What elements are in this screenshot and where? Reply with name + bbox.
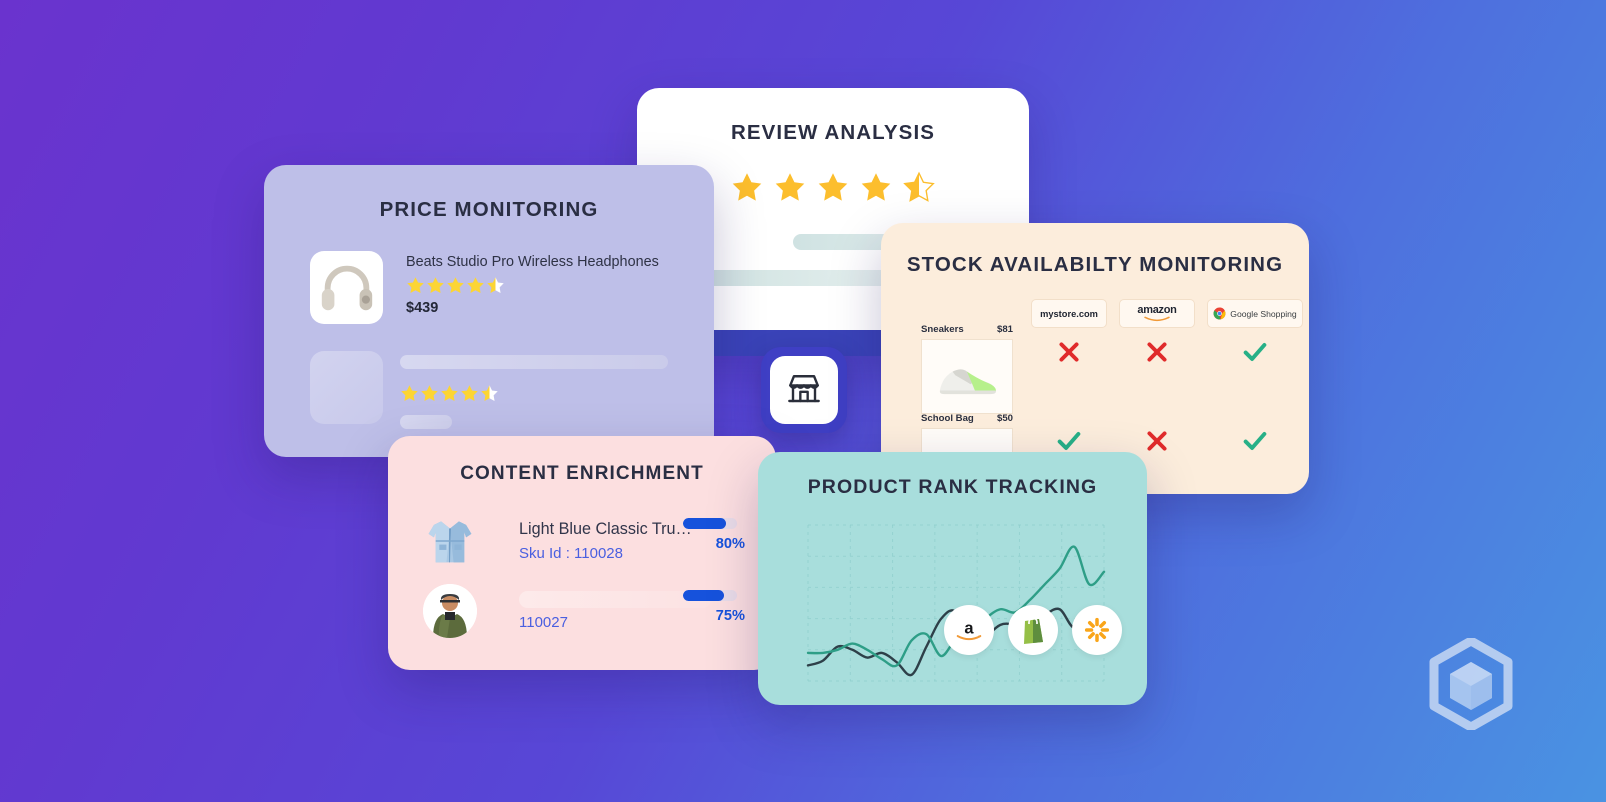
shopify-icon xyxy=(1019,615,1047,645)
availability-cell xyxy=(1119,338,1195,366)
svg-text:a: a xyxy=(964,619,974,637)
star-icon xyxy=(440,384,459,403)
product-thumbnail xyxy=(423,584,477,638)
enrichment-progress: 80% xyxy=(683,518,745,552)
star-icon xyxy=(426,276,445,295)
google-shopping-label: Google Shopping xyxy=(1230,309,1296,319)
product-name: Sneakers xyxy=(921,324,964,335)
cross-icon xyxy=(1144,339,1170,365)
product-label: School Bag $50 xyxy=(921,413,1013,424)
amazon-logo: amazon xyxy=(1137,305,1176,316)
availability-row-school-bag xyxy=(1031,427,1303,455)
star-icon xyxy=(460,384,479,403)
star-icon xyxy=(446,276,465,295)
availability-row-sneakers xyxy=(1031,338,1303,366)
mystore-logo: mystore.com xyxy=(1040,309,1098,319)
progress-fill xyxy=(683,518,726,529)
stock-availability-title: STOCK AVAILABILTY MONITORING xyxy=(881,253,1309,277)
content-item-row[interactable]: Light Blue Classic Tru… Sku Id : 110028 xyxy=(423,512,692,570)
product-thumbnail xyxy=(310,251,383,324)
content-enrichment-title: CONTENT ENRICHMENT xyxy=(388,463,776,485)
progress-track xyxy=(683,590,737,601)
poster-canvas: REVIEW ANALYSIS xyxy=(0,0,1606,802)
check-icon xyxy=(1241,427,1269,455)
star-half-icon xyxy=(902,171,936,204)
cross-icon xyxy=(1056,339,1082,365)
platform-amazon[interactable]: a xyxy=(944,605,994,655)
availability-cell xyxy=(1031,427,1107,455)
cross-icon xyxy=(1144,428,1170,454)
price-product-row[interactable]: Beats Studio Pro Wireless Headphones $43… xyxy=(310,251,659,324)
availability-cell xyxy=(1119,427,1195,455)
product-rating-stars xyxy=(406,276,659,295)
google-chrome-icon xyxy=(1213,307,1226,320)
progress-percent: 80% xyxy=(683,536,745,552)
content-item-row[interactable]: 110027 xyxy=(423,584,711,638)
star-icon xyxy=(466,276,485,295)
product-thumbnail-placeholder xyxy=(310,351,383,424)
star-icon xyxy=(859,171,893,204)
product-price: $439 xyxy=(406,300,659,316)
product-rank-tracking-title: PRODUCT RANK TRACKING xyxy=(758,476,1147,499)
retailer-header-row: mystore.com amazon Google Shoppi xyxy=(1031,299,1303,328)
product-name: School Bag xyxy=(921,413,974,424)
product-info: Beats Studio Pro Wireless Headphones $43… xyxy=(406,251,659,316)
retailer-chip-amazon[interactable]: amazon xyxy=(1119,299,1195,328)
star-half-icon xyxy=(486,276,505,295)
store-badge-inner xyxy=(770,356,838,424)
availability-cell xyxy=(1031,338,1107,366)
product-sku: Sku Id : 110028 xyxy=(519,545,692,562)
progress-fill xyxy=(683,590,724,601)
product-rating-stars xyxy=(400,384,499,403)
enrichment-progress: 75% xyxy=(683,590,745,624)
star-icon xyxy=(406,276,425,295)
sneaker-image xyxy=(931,350,1003,404)
walmart-icon xyxy=(1084,617,1110,643)
star-icon xyxy=(400,384,419,403)
star-icon xyxy=(420,384,439,403)
check-icon xyxy=(1241,338,1269,366)
product-price: $81 xyxy=(997,324,1013,335)
star-icon xyxy=(773,171,807,204)
product-thumbnail xyxy=(921,339,1013,414)
check-icon xyxy=(1055,427,1083,455)
star-icon xyxy=(730,171,764,204)
product-name: Light Blue Classic Tru… xyxy=(519,520,692,539)
hexagon-cube-logo xyxy=(1428,638,1514,730)
product-price-placeholder xyxy=(400,415,452,429)
price-monitoring-title: PRICE MONITORING xyxy=(264,198,714,222)
progress-percent: 75% xyxy=(683,608,745,624)
availability-cell xyxy=(1207,338,1303,366)
progress-track xyxy=(683,518,737,529)
retailer-chip-google-shopping[interactable]: Google Shopping xyxy=(1207,299,1303,328)
star-icon xyxy=(816,171,850,204)
headphones-image xyxy=(316,257,378,319)
star-half-icon xyxy=(480,384,499,403)
review-analysis-title: REVIEW ANALYSIS xyxy=(637,121,1029,145)
product-thumbnail xyxy=(423,512,477,570)
denim-jacket-image xyxy=(425,514,475,568)
store-badge[interactable] xyxy=(761,347,847,433)
product-label: Sneakers $81 xyxy=(921,324,1013,335)
content-enrichment-card[interactable]: CONTENT ENRICHMENT Light Blue Classic Tr… xyxy=(388,436,776,670)
product-rank-tracking-card[interactable]: PRODUCT RANK TRACKING a xyxy=(758,452,1147,705)
availability-cell xyxy=(1207,427,1303,455)
amazon-smile-icon xyxy=(1140,316,1174,322)
brand-watermark xyxy=(1428,638,1514,730)
person-avatar-image xyxy=(423,584,477,638)
product-name-placeholder xyxy=(400,355,668,369)
platform-icon-row: a xyxy=(944,605,1122,655)
amazon-icon: a xyxy=(954,617,984,643)
product-price: $50 xyxy=(997,413,1013,424)
product-name: Beats Studio Pro Wireless Headphones xyxy=(406,254,659,270)
price-monitoring-card[interactable]: PRICE MONITORING Beats Studio Pro Wirele… xyxy=(264,165,714,457)
chart-gridlines xyxy=(808,525,1104,681)
content-item-text: Light Blue Classic Tru… Sku Id : 110028 xyxy=(519,520,692,562)
retailer-chip-mystore[interactable]: mystore.com xyxy=(1031,299,1107,328)
platform-shopify[interactable] xyxy=(1008,605,1058,655)
storefront-icon xyxy=(782,368,826,412)
platform-walmart[interactable] xyxy=(1072,605,1122,655)
stock-product-sneakers[interactable]: Sneakers $81 xyxy=(921,324,1013,414)
